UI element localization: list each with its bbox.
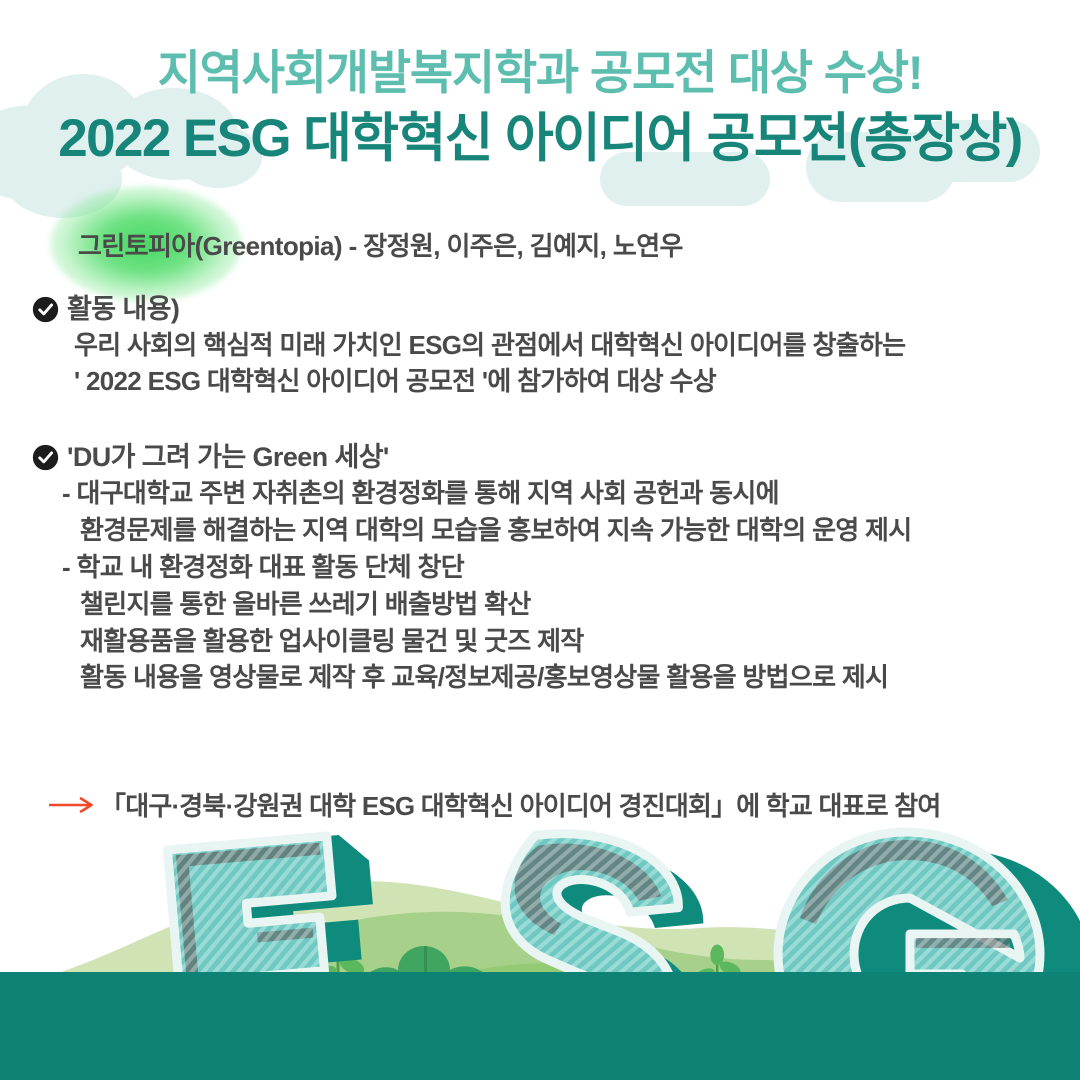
section-heading: 'DU가 그려 가는 Green 세상'	[67, 440, 389, 475]
section-line: 재활용품을 활용한 업사이클링 물건 및 굿즈 제작	[32, 623, 1062, 660]
section-heading-row: 활동 내용)	[32, 292, 1062, 327]
poster-root: 지역사회개발복지학과 공모전 대상 수상! 2022 ESG 대학혁신 아이디어…	[0, 0, 1080, 1080]
title-block: 지역사회개발복지학과 공모전 대상 수상! 2022 ESG 대학혁신 아이디어…	[0, 0, 1080, 167]
page-title-main: 2022 ESG 대학혁신 아이디어 공모전(총장상)	[0, 99, 1080, 167]
team-members-row: 그린토피아(Greentopia) - 장정원, 이주은, 김예지, 노연우	[78, 222, 683, 266]
section-heading: 활동 내용)	[67, 292, 179, 327]
conclusion-row: 「대구·경북·강원권 대학 ESG 대학혁신 아이디어 경진대회」에 학교 대표…	[48, 786, 941, 823]
section-line: - 학교 내 환경정화 대표 활동 단체 창단	[32, 549, 1062, 586]
section-line: 활동 내용을 영상물로 제작 후 교육/정보제공/홍보영상물 활용을 방법으로 …	[32, 659, 1062, 696]
check-circle-icon	[32, 444, 59, 471]
section-heading-row: 'DU가 그려 가는 Green 세상'	[32, 440, 1062, 475]
ground-bar	[0, 972, 1080, 1080]
arrow-right-icon	[48, 794, 96, 816]
section-line: 환경문제를 해결하는 지역 대학의 모습을 홍보하여 지속 가능한 대학의 운영…	[32, 512, 1062, 549]
section-line: 우리 사회의 핵심적 미래 가치인 ESG의 관점에서 대학혁신 아이디어를 창…	[32, 327, 1062, 364]
section-line: - 대구대학교 주변 자취촌의 환경정화를 통해 지역 사회 공헌과 동시에	[32, 475, 1062, 512]
section-line: ' 2022 ESG 대학혁신 아이디어 공모전 '에 참가하여 대상 수상	[32, 363, 1062, 400]
page-title-subheading: 지역사회개발복지학과 공모전 대상 수상!	[0, 0, 1080, 99]
team-members-label: 그린토피아(Greentopia) - 장정원, 이주은, 김예지, 노연우	[78, 226, 683, 263]
check-circle-icon	[32, 296, 59, 323]
section-line: 챌린지를 통한 올바른 쓰레기 배출방법 확산	[32, 586, 1062, 623]
esg-illustration	[0, 820, 1080, 1080]
body-content: 활동 내용) 우리 사회의 핵심적 미래 가치인 ESG의 관점에서 대학혁신 …	[32, 292, 1062, 696]
section-spacer	[32, 400, 1062, 440]
conclusion-text: 「대구·경북·강원권 대학 ESG 대학혁신 아이디어 경진대회」에 학교 대표…	[100, 786, 941, 823]
